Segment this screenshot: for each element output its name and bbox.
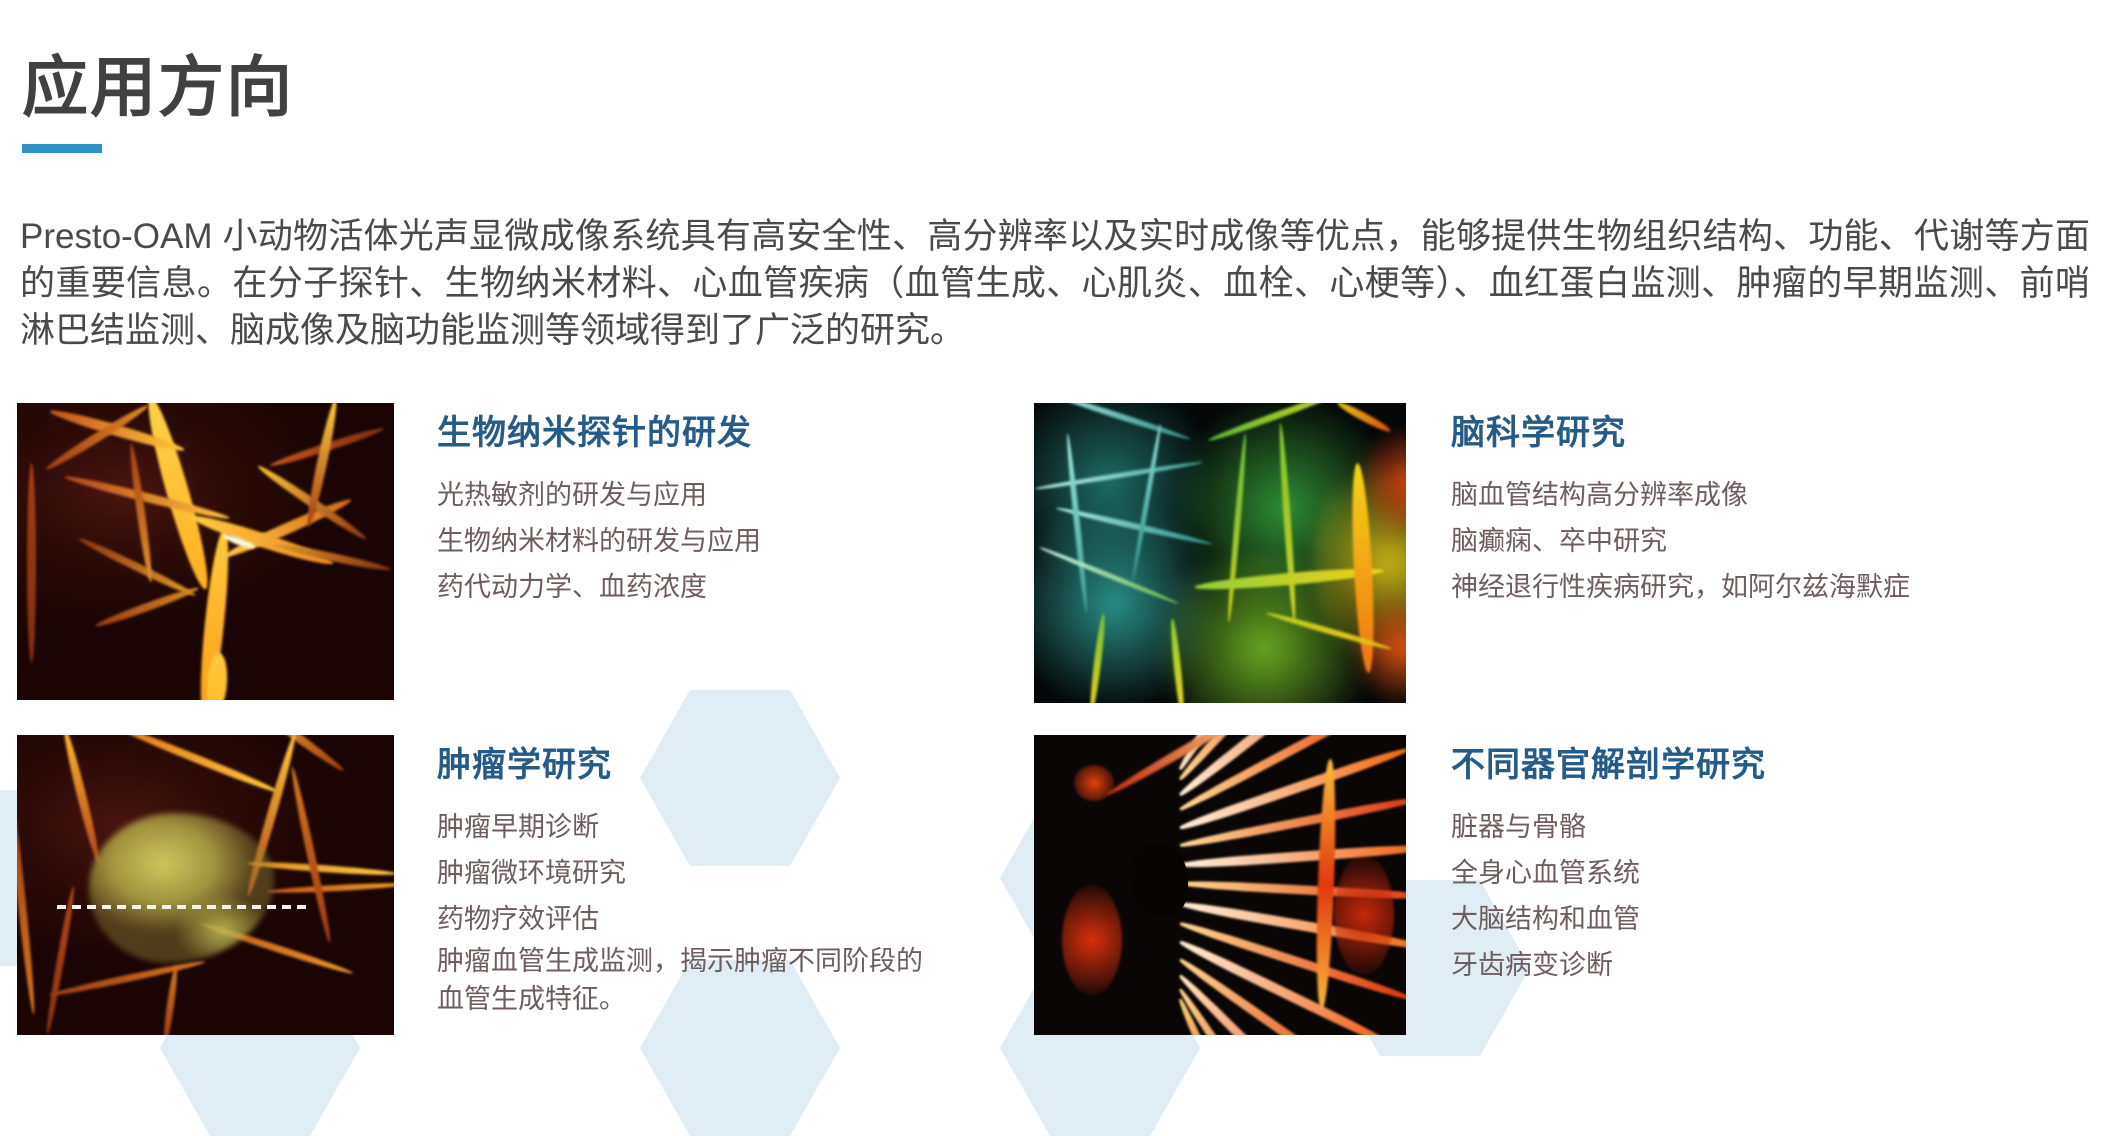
card-line: 脑血管结构高分辨率成像 bbox=[1451, 472, 1910, 518]
intro-paragraph: Presto-OAM 小动物活体光声显微成像系统具有高安全性、高分辨率以及实时成… bbox=[20, 213, 2090, 354]
card-text-block: 生物纳米探针的研发 光热敏剂的研发与应用 生物纳米材料的研发与应用 药代动力学、… bbox=[437, 403, 761, 610]
vessel-artwork bbox=[17, 403, 394, 700]
card-line: 肿瘤早期诊断 bbox=[437, 804, 947, 850]
page-title: 应用方向 bbox=[22, 50, 294, 126]
card-title: 不同器官解剖学研究 bbox=[1451, 737, 1766, 786]
tumor-vasculature-with-mass-image bbox=[17, 735, 394, 1035]
organ-anatomy-radial-vessels-image bbox=[1034, 735, 1406, 1035]
card-bio-nano-probe: 生物纳米探针的研发 光热敏剂的研发与应用 生物纳米材料的研发与应用 药代动力学、… bbox=[17, 403, 761, 700]
dark-core-region bbox=[1130, 843, 1188, 917]
card-line: 大脑结构和血管 bbox=[1451, 896, 1766, 942]
scale-bar-dashed-line bbox=[57, 905, 307, 909]
card-text-block: 脑科学研究 脑血管结构高分辨率成像 脑癫痫、卒中研究 神经退行性疾病研究，如阿尔… bbox=[1451, 403, 1910, 610]
card-line: 全身心血管系统 bbox=[1451, 850, 1766, 896]
vessel-artwork bbox=[1034, 735, 1406, 1035]
photoacoustic-vasculature-red-image bbox=[17, 403, 394, 700]
card-text-block: 肿瘤学研究 肿瘤早期诊断 肿瘤微环境研究 药物疗效评估 肿瘤血管生成监测，揭示肿… bbox=[437, 735, 947, 1018]
card-line: 牙齿病变诊断 bbox=[1451, 942, 1766, 988]
card-line: 光热敏剂的研发与应用 bbox=[437, 472, 761, 518]
card-line: 肿瘤微环境研究 bbox=[437, 850, 947, 896]
card-brain-science: 脑科学研究 脑血管结构高分辨率成像 脑癫痫、卒中研究 神经退行性疾病研究，如阿尔… bbox=[1034, 403, 1910, 703]
card-title: 肿瘤学研究 bbox=[437, 737, 947, 786]
card-line: 肿瘤血管生成监测，揭示肿瘤不同阶段的血管生成特征。 bbox=[437, 942, 947, 1018]
card-line: 脏器与骨骼 bbox=[1451, 804, 1766, 850]
card-title: 脑科学研究 bbox=[1451, 405, 1910, 454]
vessel-artwork bbox=[1034, 403, 1406, 703]
card-organ-anatomy: 不同器官解剖学研究 脏器与骨骼 全身心血管系统 大脑结构和血管 牙齿病变诊断 bbox=[1034, 735, 1766, 1035]
brain-vasculature-multicolor-image bbox=[1034, 403, 1406, 703]
card-line: 神经退行性疾病研究，如阿尔兹海默症 bbox=[1451, 564, 1910, 610]
card-oncology: 肿瘤学研究 肿瘤早期诊断 肿瘤微环境研究 药物疗效评估 肿瘤血管生成监测，揭示肿… bbox=[17, 735, 947, 1035]
card-line: 药代动力学、血药浓度 bbox=[437, 564, 761, 610]
card-line: 脑癫痫、卒中研究 bbox=[1451, 518, 1910, 564]
vessel-artwork bbox=[17, 735, 394, 1035]
card-title: 生物纳米探针的研发 bbox=[437, 405, 761, 454]
card-line: 生物纳米材料的研发与应用 bbox=[437, 518, 761, 564]
card-line: 药物疗效评估 bbox=[437, 896, 947, 942]
title-underline-rule bbox=[22, 144, 102, 153]
card-text-block: 不同器官解剖学研究 脏器与骨骼 全身心血管系统 大脑结构和血管 牙齿病变诊断 bbox=[1451, 735, 1766, 988]
